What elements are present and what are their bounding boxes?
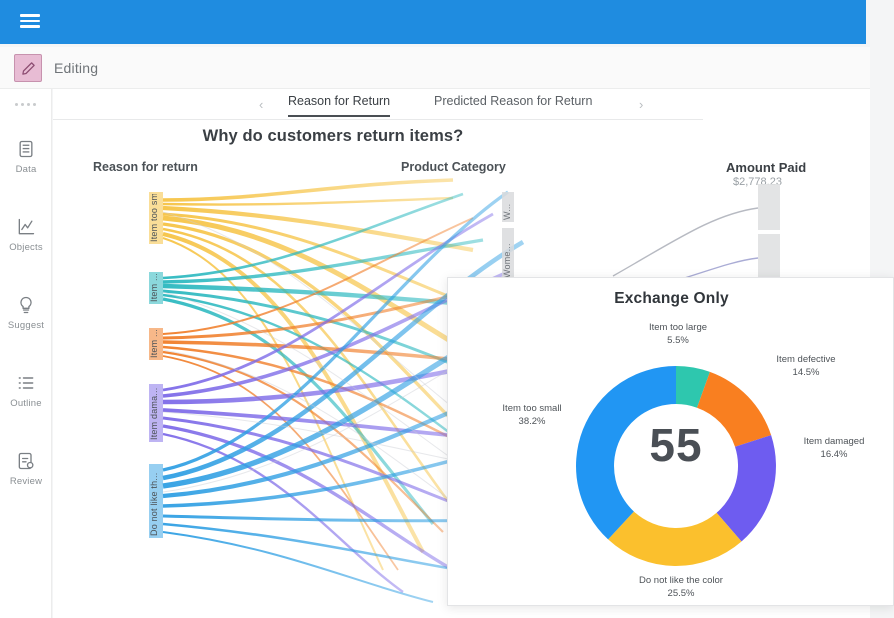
database-icon [16,139,36,159]
document-check-icon [16,451,36,471]
drag-dots-icon[interactable] [10,103,40,106]
sidebar-item-review[interactable]: Review [0,441,52,497]
donut-chart: 55 Item too large 5.5% Item defective 14… [448,278,894,607]
sankey-node [149,192,163,244]
sidebar-item-label: Suggest [8,320,44,331]
donut-center-value: 55 [628,418,724,472]
chevron-right-icon[interactable]: › [639,97,643,112]
sankey-node [149,328,163,360]
list-icon [16,373,36,393]
left-sidebar: Data Objects Suggest [0,89,52,618]
donut-slice-do-not-like-the-color [608,512,741,566]
sidebar-item-data[interactable]: Data [0,129,52,185]
sidebar-item-label: Objects [9,242,43,253]
sankey-node [758,234,780,282]
sankey-node [149,272,163,304]
exchange-only-popup: Exchange Only 55 Item [447,277,894,606]
sidebar-item-label: Review [10,476,42,487]
pencil-icon[interactable] [14,54,42,82]
chart-icon [16,217,36,237]
sidebar-item-objects[interactable]: Objects [0,207,52,263]
sankey-node [758,184,780,230]
sankey-node [149,464,163,538]
hamburger-menu-icon[interactable] [20,11,42,31]
lightbulb-icon [16,295,36,315]
sidebar-item-suggest[interactable]: Suggest [0,285,52,341]
sidebar-item-label: Outline [10,398,42,409]
top-app-bar [0,0,866,44]
sidebar-item-outline[interactable]: Outline [0,363,52,419]
chevron-left-icon[interactable]: ‹ [259,97,263,112]
app-window: Editing Data O [0,0,894,618]
sidebar-item-label: Data [16,164,37,175]
sankey-node [149,384,163,442]
editing-toolbar: Editing [0,47,870,89]
tab-predicted-reason-for-return[interactable]: Predicted Reason for Return [434,94,592,115]
sankey-node [502,228,514,280]
tab-reason-for-return[interactable]: Reason for Return [288,94,390,117]
sankey-node [502,192,514,222]
tab-divider [53,119,703,120]
tab-bar: ‹ Reason for Return Predicted Reason for… [53,89,870,122]
editing-label: Editing [54,60,98,76]
